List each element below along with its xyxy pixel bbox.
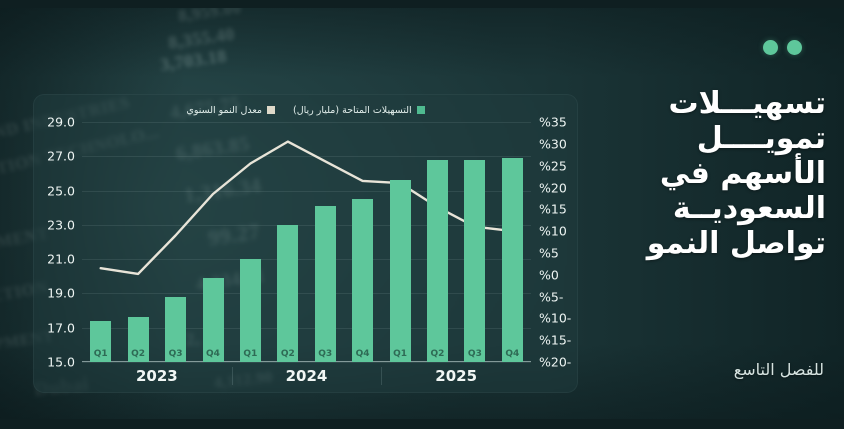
legend-swatch-icon: [267, 106, 275, 114]
bar[interactable]: Q4: [352, 199, 373, 362]
chart-panel: معدل النمو السنويالتسهيلات المتاحة (مليا…: [33, 94, 578, 393]
headline-line: تواصل النمو: [568, 226, 826, 261]
y-axis-left-tick: 15.0: [47, 355, 75, 370]
y-axis-right-tick: %30: [539, 136, 567, 151]
y-axis-left-tick: 27.0: [47, 149, 75, 164]
letterbox-top: [0, 0, 844, 8]
plot-area: 29.027.025.023.021.019.017.015.0%35%30%2…: [82, 122, 531, 362]
brand-dots: [763, 40, 802, 55]
bar[interactable]: Q3: [464, 160, 485, 362]
subtitle: للفصل التاسع: [568, 360, 824, 379]
x-axis-year-label: 2024: [232, 364, 382, 388]
y-axis-right-tick: %10-: [539, 311, 571, 326]
gridline: [82, 122, 531, 123]
headline-line: الأسهم في: [568, 156, 826, 191]
bar-quarter-label: Q2: [128, 349, 149, 359]
y-axis-left-tick: 21.0: [47, 252, 75, 267]
y-axis-right-tick: %20-: [539, 355, 571, 370]
bar[interactable]: Q3: [165, 297, 186, 362]
letterbox-bottom: [0, 419, 844, 429]
bar-quarter-label: Q1: [390, 349, 411, 359]
bar[interactable]: Q1: [90, 321, 111, 362]
legend-label: معدل النمو السنوي: [186, 105, 262, 116]
bar[interactable]: Q4: [203, 278, 224, 362]
y-axis-right-tick: %5: [539, 245, 559, 260]
bar-quarter-label: Q1: [240, 349, 261, 359]
y-axis-left-tick: 25.0: [47, 183, 75, 198]
bar-quarter-label: Q4: [352, 349, 373, 359]
gridline: [82, 156, 531, 157]
brand-dot-2-icon: [787, 40, 802, 55]
legend-item[interactable]: التسهيلات المتاحة (مليار ريال): [293, 105, 425, 116]
y-axis-left-tick: 17.0: [47, 320, 75, 335]
y-axis-right-tick: %15: [539, 202, 567, 217]
y-axis-left-tick: 23.0: [47, 217, 75, 232]
bar[interactable]: Q3: [315, 206, 336, 362]
bar-quarter-label: Q3: [315, 349, 336, 359]
y-axis-right-tick: %10: [539, 224, 567, 239]
brand-dot-1-icon: [763, 40, 778, 55]
chart-legend: معدل النمو السنويالتسهيلات المتاحة (مليا…: [33, 100, 578, 120]
bar[interactable]: Q2: [128, 317, 149, 362]
legend-label: التسهيلات المتاحة (مليار ريال): [293, 105, 412, 116]
bar[interactable]: Q1: [240, 259, 261, 362]
y-axis-left-tick: 19.0: [47, 286, 75, 301]
bar[interactable]: Q2: [277, 225, 298, 362]
legend-swatch-icon: [417, 106, 425, 114]
bar-quarter-label: Q1: [90, 349, 111, 359]
bar-quarter-label: Q2: [277, 349, 298, 359]
bar[interactable]: Q2: [427, 160, 448, 362]
headline-line: السعوديــة: [568, 191, 826, 226]
y-axis-right-tick: %5-: [539, 289, 563, 304]
legend-item[interactable]: معدل النمو السنوي: [186, 105, 275, 116]
bar[interactable]: Q4: [502, 158, 523, 362]
x-axis-year-band: 202320242025: [82, 364, 531, 388]
bar-quarter-label: Q4: [203, 349, 224, 359]
bar-quarter-label: Q4: [502, 349, 523, 359]
y-axis-right-tick: %0: [539, 267, 559, 282]
gridline: [82, 362, 531, 363]
headline: تسهيـــلاتتمويــــلالأسهم فيالسعوديــةتو…: [568, 86, 826, 261]
headline-line: تمويــــل: [568, 121, 826, 156]
y-axis-right-tick: %35: [539, 115, 567, 130]
bar[interactable]: Q1: [390, 180, 411, 362]
bar-quarter-label: Q3: [165, 349, 186, 359]
y-axis-right-tick: %15-: [539, 333, 571, 348]
infographic-canvas: 8,959.008,355.403,703.18ND INDUSTRIES4,6…: [0, 0, 844, 429]
x-axis-year-label: 2023: [82, 364, 232, 388]
bar-quarter-label: Q3: [464, 349, 485, 359]
headline-line: تسهيـــلات: [568, 86, 826, 121]
y-axis-left-tick: 29.0: [47, 115, 75, 130]
x-axis-year-label: 2025: [381, 364, 531, 388]
bar-quarter-label: Q2: [427, 349, 448, 359]
y-axis-right-tick: %25: [539, 158, 567, 173]
y-axis-right-tick: %20: [539, 180, 567, 195]
